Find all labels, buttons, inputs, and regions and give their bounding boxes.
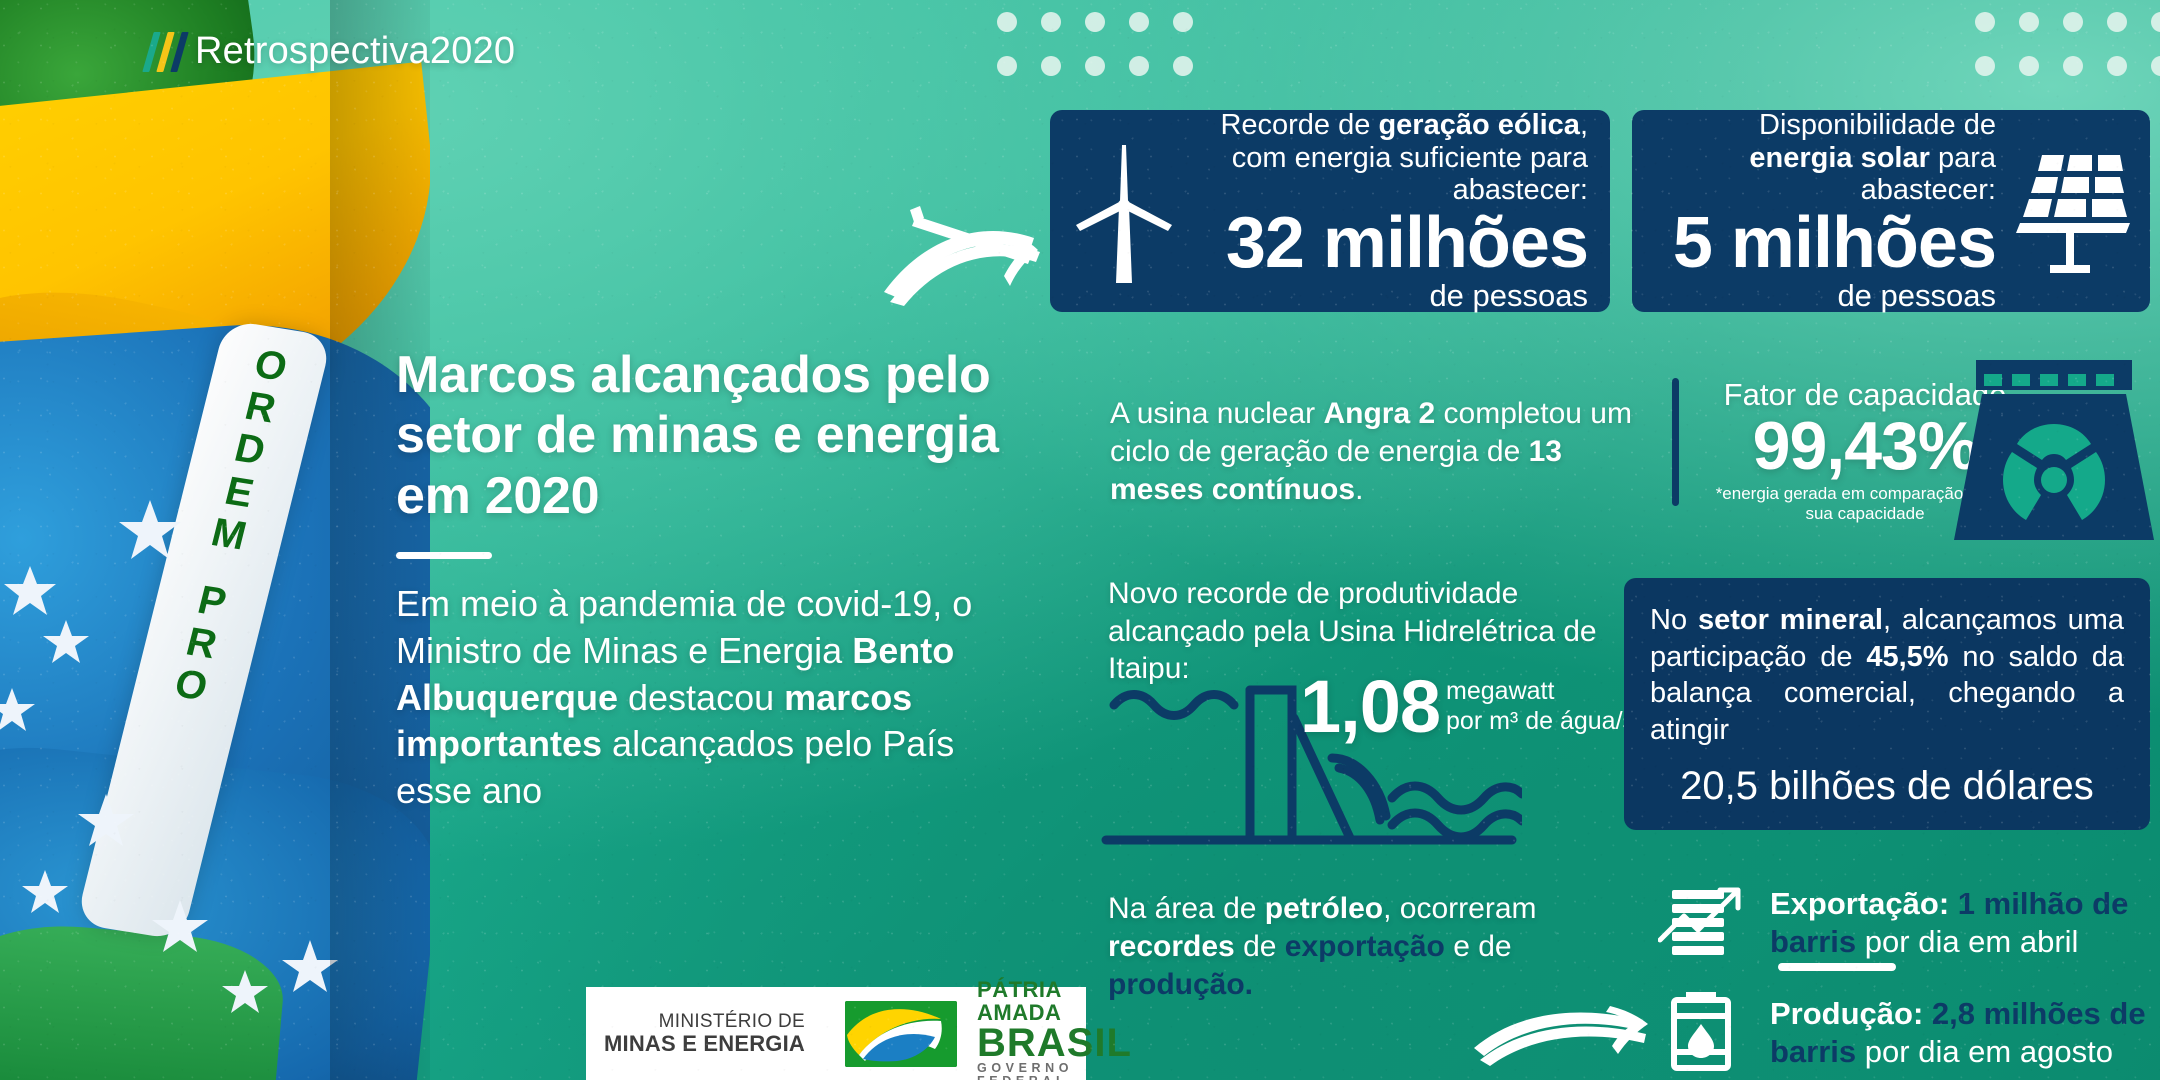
oil-stat-export-row: Exportação: 1 milhão de barris por dia e…	[1658, 880, 2160, 966]
angra-text-3: .	[1355, 473, 1363, 506]
itaipu-value: 1,08	[1300, 672, 1440, 742]
mineral-sector-card: No setor mineral, alcançamos uma partici…	[1624, 578, 2150, 830]
itaipu-value-row: 1,08 megawatt por m³ de água/s	[1300, 672, 1635, 742]
headline-block: Marcos alcançados pelo setor de minas e …	[396, 345, 1036, 815]
wind-kicker-bold: geração eólica	[1378, 109, 1580, 141]
angra-text-1: A usina nuclear	[1110, 397, 1323, 430]
slash-marks-icon	[148, 32, 183, 72]
angra-paragraph: A usina nuclear Angra 2 completou um cic…	[1110, 395, 1655, 508]
footer-logo-bar: MINISTÉRIO DE MINAS E ENERGIA PÁTRIA AMA…	[586, 987, 1086, 1080]
brasil-flag-logo-icon	[845, 1001, 957, 1067]
oil-stat-production-text: Produção: 2,8 milhões de barris por dia …	[1770, 995, 2160, 1071]
wind-energy-card: Recorde de geração eólica, com energia s…	[1050, 110, 1610, 312]
petro-bold-records: recordes	[1108, 930, 1235, 963]
mineral-bold-pct: 45,5%	[1866, 641, 1948, 673]
wind-card-unit: de pessoas	[1190, 279, 1588, 313]
brand-line-2: BRASIL	[977, 1024, 1132, 1062]
motto-letter: R	[241, 385, 282, 432]
itaipu-unit-line2: por m³ de água/s	[1446, 707, 1635, 737]
solar-energy-card: Disponibilidade de energia solar para ab…	[1632, 110, 2150, 312]
export-label: Exportação:	[1770, 886, 1949, 921]
ministry-logo: MINISTÉRIO DE MINAS E ENERGIA	[604, 1011, 805, 1057]
capacity-factor-value: 99,43%	[1700, 412, 2030, 480]
lede-paragraph: Em meio à pandemia de covid-19, o Minist…	[396, 581, 1036, 815]
production-label: Produção:	[1770, 996, 1923, 1031]
brand-line-3: GOVERNO FEDERAL	[977, 1062, 1132, 1080]
itaipu-unit: megawatt por m³ de água/s	[1446, 677, 1635, 742]
capacity-factor-block: Fator de capacidade 99,43% *energia gera…	[1700, 378, 2030, 525]
title-rule	[396, 552, 492, 559]
petro-text-5: .	[1245, 968, 1253, 1001]
petro-text-4: e de	[1445, 930, 1512, 963]
mineral-card-text: No setor mineral, alcançamos uma partici…	[1650, 602, 2124, 748]
mineral-card-value: 20,5 bilhões de dólares	[1650, 764, 2124, 809]
motto-letter: M	[207, 511, 252, 559]
motto-letter: O	[250, 343, 293, 390]
brand-line-1: PÁTRIA AMADA	[977, 979, 1132, 1024]
wind-card-kicker: Recorde de geração eólica, com energia s…	[1190, 109, 1588, 206]
wind-card-value: 32 milhões	[1190, 207, 1588, 279]
mineral-text-1: No	[1650, 604, 1698, 636]
solar-kicker-bold: energia solar	[1749, 142, 1930, 174]
petro-text-1: Na área de	[1108, 892, 1265, 925]
dot-grid-left	[997, 12, 1193, 76]
itaipu-unit-line1: megawatt	[1446, 677, 1635, 707]
solar-panel-icon	[2006, 141, 2136, 281]
ministry-line-2: MINAS E ENERGIA	[604, 1032, 805, 1057]
petro-text-2: , ocorreram	[1383, 892, 1536, 925]
brazil-flag-photo: O R D E M P R O	[0, 0, 430, 1080]
retrospective-title: Retrospectiva2020	[195, 30, 515, 73]
wind-turbine-icon	[1064, 131, 1184, 291]
motto-letter: O	[170, 663, 213, 710]
oil-drum-icon	[1658, 990, 1744, 1076]
export-rest: por dia em abril	[1856, 924, 2078, 959]
solar-card-unit: de pessoas	[1654, 279, 1996, 313]
wind-kicker-1: Recorde de	[1220, 109, 1378, 141]
dot-grid-right	[1975, 12, 2160, 76]
petro-bold-oil: petróleo	[1265, 892, 1383, 925]
stat-divider-rule	[1778, 963, 1896, 971]
patria-amada-brasil-logo: PÁTRIA AMADA BRASIL GOVERNO FEDERAL	[977, 979, 1132, 1080]
brand-line: Retrospectiva2020	[148, 30, 515, 73]
solar-card-value: 5 milhões	[1654, 207, 1996, 279]
vertical-divider	[1672, 378, 1679, 506]
solar-card-kicker: Disponibilidade de energia solar para ab…	[1654, 109, 1996, 206]
capacity-factor-label: Fator de capacidade	[1700, 378, 2030, 412]
petro-text-3: de	[1235, 930, 1285, 963]
petro-navy-export: exportação	[1285, 930, 1445, 963]
infographic-canvas: O R D E M P R O	[0, 0, 2160, 1080]
motto-letter: P	[194, 579, 233, 626]
solar-kicker-1: Disponibilidade de	[1759, 109, 1996, 141]
oil-stat-production-row: Produção: 2,8 milhões de barris por dia …	[1658, 990, 2160, 1076]
barrel-chart-up-icon	[1658, 880, 1744, 966]
oil-stat-export-text: Exportação: 1 milhão de barris por dia e…	[1770, 885, 2160, 961]
motto-letter: E	[221, 470, 260, 517]
motto-letter: D	[230, 427, 271, 474]
lede-text-2: destacou	[618, 677, 784, 718]
capacity-factor-note: *energia gerada em comparação com a sua …	[1700, 484, 2030, 525]
production-rest: por dia em agosto	[1856, 1034, 2113, 1069]
mineral-bold-sector: setor mineral	[1698, 604, 1883, 636]
ministry-line-1: MINISTÉRIO DE	[604, 1011, 805, 1032]
angra-bold-plant: Angra 2	[1323, 397, 1435, 430]
page-title: Marcos alcançados pelo setor de minas e …	[396, 345, 1036, 526]
motto-letter: R	[182, 621, 223, 668]
petroleo-paragraph: Na área de petróleo, ocorreram recordes …	[1108, 890, 1608, 1003]
